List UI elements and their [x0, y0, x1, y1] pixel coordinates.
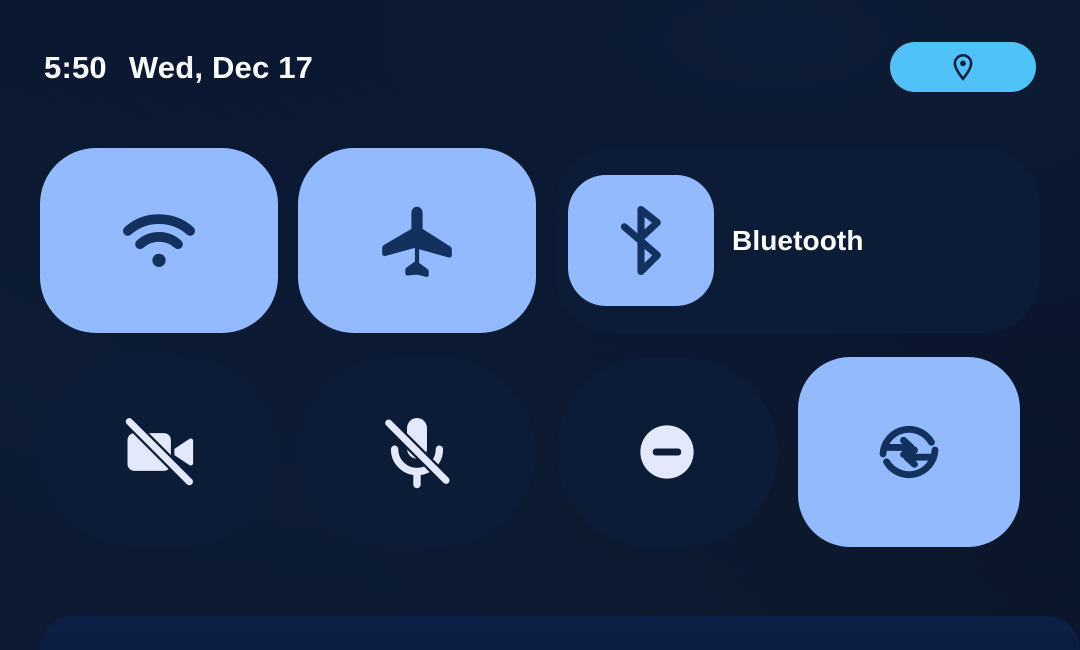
quick-settings-row-2 — [40, 357, 1040, 547]
tile-bluetooth-label: Bluetooth — [732, 225, 864, 257]
wifi-icon — [116, 198, 202, 284]
bluetooth-icon-badge — [568, 175, 714, 306]
location-indicator-pill[interactable] — [890, 42, 1036, 92]
location-pin-icon — [948, 52, 978, 82]
status-time: 5:50 — [44, 52, 107, 83]
bottom-panel-edge — [40, 616, 1080, 650]
quick-settings-grid: Bluetooth — [40, 148, 1040, 547]
tile-data-saver[interactable] — [798, 357, 1020, 547]
mic-off-icon — [375, 410, 459, 494]
status-bar: 5:50 Wed, Dec 17 — [0, 36, 1080, 98]
do-not-disturb-icon — [633, 418, 701, 486]
tile-do-not-disturb[interactable] — [556, 357, 778, 547]
tile-mic-off[interactable] — [298, 357, 536, 547]
tile-wifi[interactable] — [40, 148, 278, 333]
tile-bluetooth[interactable]: Bluetooth — [556, 148, 1040, 333]
camera-off-icon — [117, 410, 201, 494]
status-date: Wed, Dec 17 — [129, 52, 313, 83]
bluetooth-icon — [604, 204, 678, 278]
airplane-icon — [375, 199, 459, 283]
tile-airplane-mode[interactable] — [298, 148, 536, 333]
clock-group: 5:50 Wed, Dec 17 — [44, 52, 313, 83]
quick-settings-row-1: Bluetooth — [40, 148, 1040, 333]
tile-camera-off[interactable] — [40, 357, 278, 547]
sync-arrows-icon — [870, 413, 948, 491]
quick-settings-screen: 5:50 Wed, Dec 17 — [0, 0, 1080, 650]
